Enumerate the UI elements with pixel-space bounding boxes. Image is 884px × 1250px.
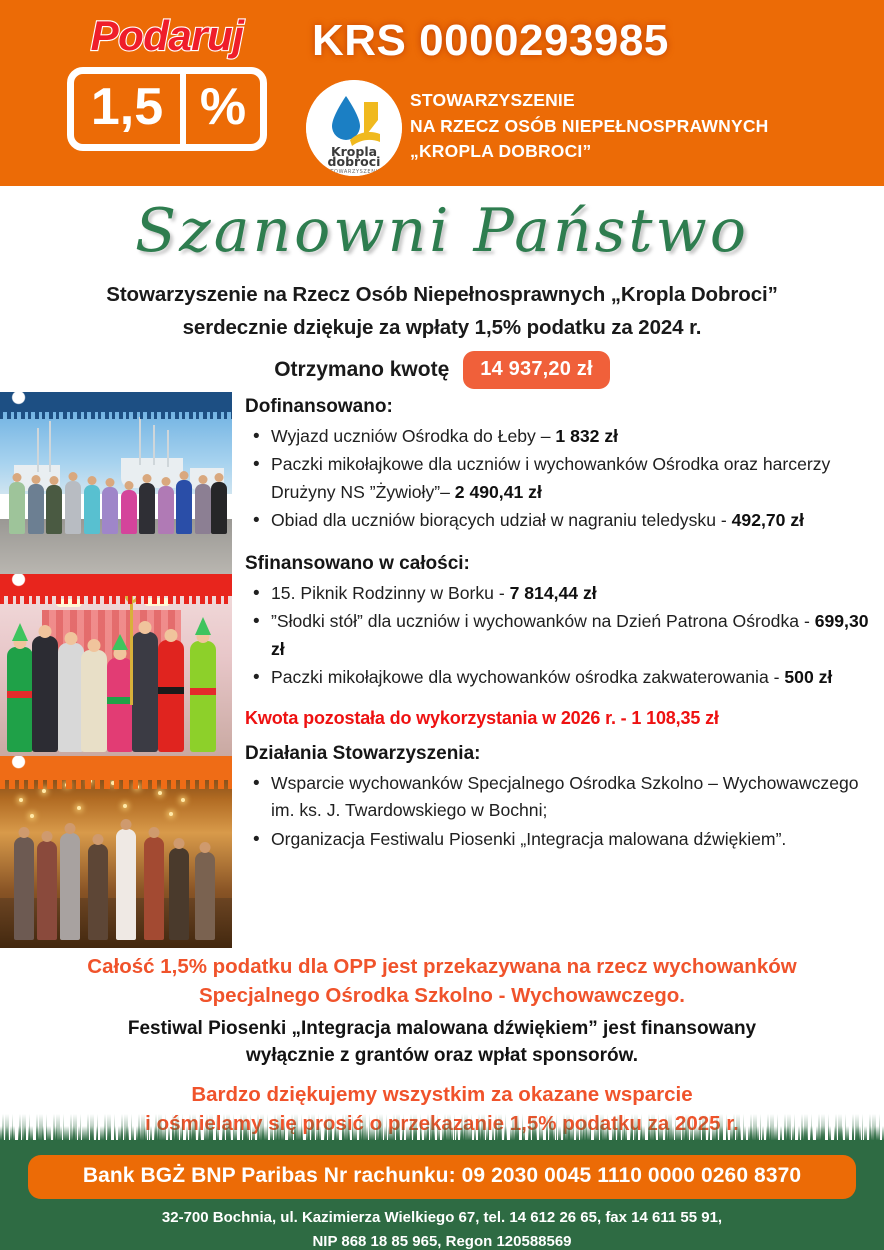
org-line-1: STOWARZYSZENIE — [410, 88, 769, 114]
section-heading-fully-financed: Sfinansowano w całości: — [245, 553, 873, 575]
logo-text-stowarzyszenie: STOWARZYSZENIE — [327, 169, 382, 175]
list-item: Organizacja Festiwalu Piosenki „Integrac… — [247, 826, 873, 853]
item-text: ”Słodki stół” dla uczniów i wychowanków … — [271, 611, 815, 631]
item-text: Organizacja Festiwalu Piosenki „Integrac… — [271, 829, 786, 849]
item-amount: 2 490,41 zł — [455, 482, 542, 502]
item-text: Obiad dla uczniów biorących udział w nag… — [271, 510, 732, 530]
item-text: Paczki mikołajkowe dla uczniów i wychowa… — [271, 454, 830, 501]
krs-number: KRS 0000293985 — [312, 16, 669, 66]
closing-orange-line-2: Specjalnego Ośrodka Szkolno - Wychowawcz… — [0, 981, 884, 1010]
closing-orange-line-1: Całość 1,5% podatku dla OPP jest przekaz… — [0, 952, 884, 981]
intro-block: Stowarzyszenie na Rzecz Osób Niepełnospr… — [0, 278, 884, 389]
remaining-amount-note: Kwota pozostała do wykorzystania w 2026 … — [245, 708, 873, 729]
list-fully-financed: 15. Piknik Rodzinny w Borku - 7 814,44 z… — [247, 580, 873, 691]
org-line-2: NA RZECZ OSÓB NIEPEŁNOSPRAWNYCH — [410, 114, 769, 140]
org-line-3: „KROPLA DOBROCI” — [410, 139, 769, 165]
harbor-crowd — [0, 450, 232, 534]
photo-santa — [0, 574, 232, 756]
salutation-heading: Szanowni Państwo — [0, 196, 884, 266]
donate-word: Podaruj — [42, 14, 292, 58]
list-item: 15. Piknik Rodzinny w Borku - 7 814,44 z… — [247, 580, 873, 607]
closing-black-paragraph: Festiwal Piosenki „Integracja malowana d… — [0, 1016, 884, 1070]
section-heading-cofinanced: Dofinansowano: — [245, 396, 873, 418]
item-amount: 492,70 zł — [732, 510, 804, 530]
list-activities: Wsparcie wychowanków Specjalnego Ośrodka… — [247, 770, 873, 853]
item-text: Paczki mikołajkowe dla wychowanków ośrod… — [271, 667, 784, 687]
closing-black-line-2: wyłącznie z grantów oraz wpłat sponsorów… — [0, 1043, 884, 1070]
item-amount: 500 zł — [784, 667, 832, 687]
list-item: Obiad dla uczniów biorących udział w nag… — [247, 507, 873, 534]
photo-dance — [0, 756, 232, 948]
list-item: ”Słodki stół” dla uczniów i wychowanków … — [247, 608, 873, 663]
list-item: Paczki mikołajkowe dla wychowanków ośrod… — [247, 664, 873, 691]
address-line-2: NIP 868 18 85 965, Regon 120588569 — [0, 1230, 884, 1250]
header-banner: Podaruj 1,5 % KRS 0000293985 Kropla dobr… — [0, 0, 884, 186]
donate-logo: Podaruj 1,5 % — [42, 14, 292, 151]
grass-edge-decoration-front — [0, 1126, 884, 1144]
address-block: 32-700 Bochnia, ul. Kazimierza Wielkiego… — [0, 1206, 884, 1250]
list-item: Wyjazd uczniów Ośrodka do Łeby – 1 832 z… — [247, 423, 873, 450]
address-line-1: 32-700 Bochnia, ul. Kazimierza Wielkiego… — [0, 1206, 884, 1230]
list-item: Wsparcie wychowanków Specjalnego Ośrodka… — [247, 770, 873, 825]
percent-symbol: % — [186, 74, 260, 144]
closing-orange-paragraph: Całość 1,5% podatku dla OPP jest przekaz… — [0, 952, 884, 1010]
list-item: Paczki mikołajkowe dla uczniów i wychowa… — [247, 451, 873, 506]
closing-black-line-1: Festiwal Piosenki „Integracja malowana d… — [0, 1016, 884, 1043]
section-heading-activities: Działania Stowarzyszenia: — [245, 743, 873, 765]
logo-text-dobroci: dobroci — [328, 154, 381, 169]
closing-thanks-line-1: Bardzo dziękujemy wszystkim za okazane w… — [0, 1080, 884, 1109]
item-amount: 7 814,44 zł — [510, 583, 597, 603]
photo-harbor — [0, 392, 232, 574]
item-text: Wyjazd uczniów Ośrodka do Łeby – — [271, 426, 555, 446]
kropla-dobroci-logo: Kropla dobroci STOWARZYSZENIE — [306, 80, 402, 176]
percent-value: 1,5 — [74, 74, 186, 144]
percent-box: 1,5 % — [67, 67, 267, 151]
item-text: Wsparcie wychowanków Specjalnego Ośrodka… — [271, 773, 859, 820]
intro-line-1: Stowarzyszenie na Rzecz Osób Niepełnospr… — [0, 278, 884, 311]
amount-badge: 14 937,20 zł — [463, 351, 610, 389]
footer-banner: Bank BGŻ BNP Paribas Nr rachunku: 09 203… — [0, 1140, 884, 1250]
amount-row: Otrzymano kwotę 14 937,20 zł — [0, 351, 884, 389]
flyer-page: Podaruj 1,5 % KRS 0000293985 Kropla dobr… — [0, 0, 884, 1250]
list-cofinanced: Wyjazd uczniów Ośrodka do Łeby – 1 832 z… — [247, 423, 873, 534]
item-amount: 1 832 zł — [555, 426, 618, 446]
intro-line-2: serdecznie dziękuje za wpłaty 1,5% podat… — [0, 311, 884, 344]
item-text: 15. Piknik Rodzinny w Borku - — [271, 583, 510, 603]
bank-account-pill: Bank BGŻ BNP Paribas Nr rachunku: 09 203… — [28, 1155, 856, 1199]
amount-label: Otrzymano kwotę — [274, 358, 449, 382]
organization-name: STOWARZYSZENIE NA RZECZ OSÓB NIEPEŁNOSPR… — [410, 88, 769, 165]
content-column: Dofinansowano: Wyjazd uczniów Ośrodka do… — [245, 396, 873, 854]
